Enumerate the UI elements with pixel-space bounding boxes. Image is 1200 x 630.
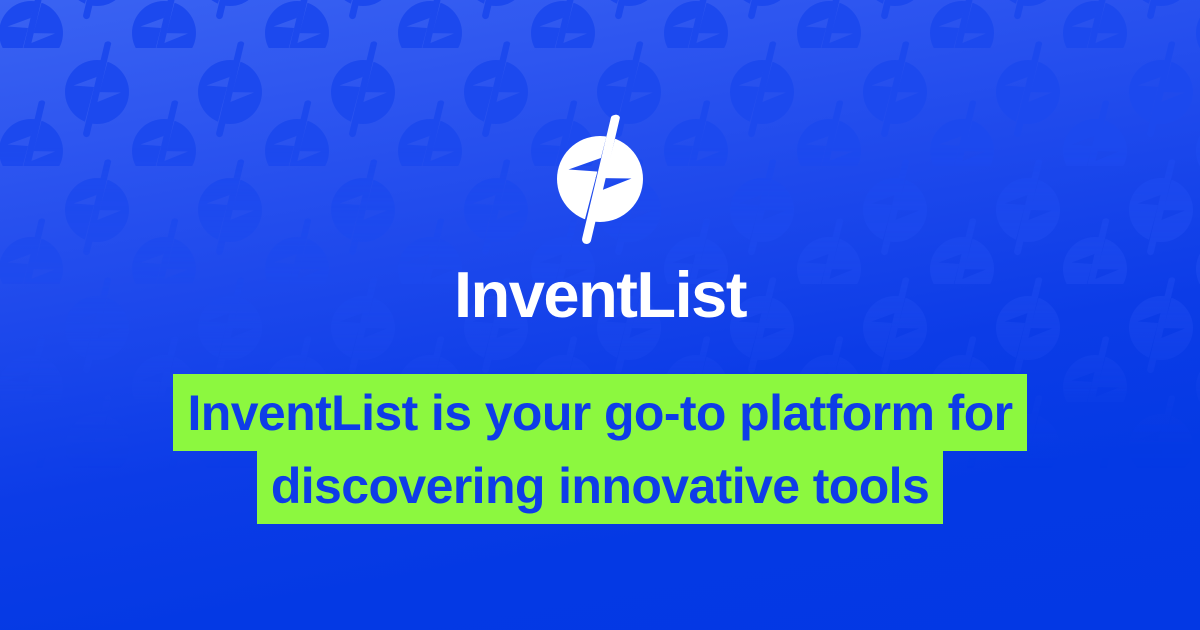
card-content: InventList InventList is your go-to plat… bbox=[0, 0, 1200, 630]
tagline-line-2-text: discovering innovative tools bbox=[257, 447, 943, 524]
tagline: InventList is your go-to platform for di… bbox=[0, 377, 1200, 523]
lightning-bolt-circle-icon bbox=[548, 112, 652, 248]
tagline-line-2: discovering innovative tools bbox=[0, 450, 1200, 523]
brand-name: InventList bbox=[454, 262, 746, 327]
tagline-line-1: InventList is your go-to platform for bbox=[0, 377, 1200, 450]
og-social-card: InventList InventList is your go-to plat… bbox=[0, 0, 1200, 630]
tagline-line-1-text: InventList is your go-to platform for bbox=[173, 374, 1026, 451]
